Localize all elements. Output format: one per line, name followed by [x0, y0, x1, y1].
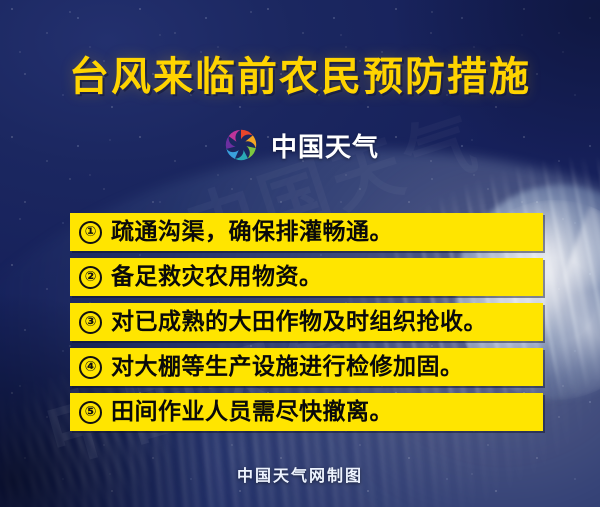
- typhoon-prevention-poster: 中国天气 中国天气 台风来临前农民预防措施 中国天气 ① 疏通沟渠: [0, 0, 600, 507]
- measure-item-4: ④ 对大棚等生产设施进行检修加固。: [70, 348, 543, 386]
- measure-index-5: ⑤: [79, 401, 102, 424]
- brand-name: 中国天气: [271, 127, 379, 164]
- measure-item-3: ③ 对已成熟的大田作物及时组织抢收。: [70, 303, 543, 341]
- measure-item-1: ① 疏通沟渠，确保排灌畅通。: [70, 213, 543, 251]
- measure-text-5: 田间作业人员需尽快撤离。: [111, 401, 393, 424]
- measure-item-5: ⑤ 田间作业人员需尽快撤离。: [70, 393, 543, 431]
- measure-text-1: 疏通沟渠，确保排灌畅通。: [111, 221, 393, 244]
- measure-index-1: ①: [79, 221, 102, 244]
- poster-title: 台风来临前农民预防措施: [0, 44, 600, 102]
- measures-list: ① 疏通沟渠，确保排灌畅通。 ② 备足救灾农用物资。 ③ 对已成熟的大田作物及时…: [70, 213, 543, 438]
- measure-text-4: 对大棚等生产设施进行检修加固。: [111, 356, 464, 379]
- measure-index-2: ②: [79, 266, 102, 289]
- measure-item-2: ② 备足救灾农用物资。: [70, 258, 543, 296]
- measure-text-3: 对已成熟的大田作物及时组织抢收。: [111, 311, 487, 334]
- measure-text-2: 备足救灾农用物资。: [111, 266, 323, 289]
- china-weather-pinwheel-icon: [221, 125, 261, 165]
- measure-index-3: ③: [79, 311, 102, 334]
- brand-lockup: 中国天气: [0, 125, 600, 165]
- measure-index-4: ④: [79, 356, 102, 379]
- credit-line: 中国天气网制图: [0, 462, 600, 486]
